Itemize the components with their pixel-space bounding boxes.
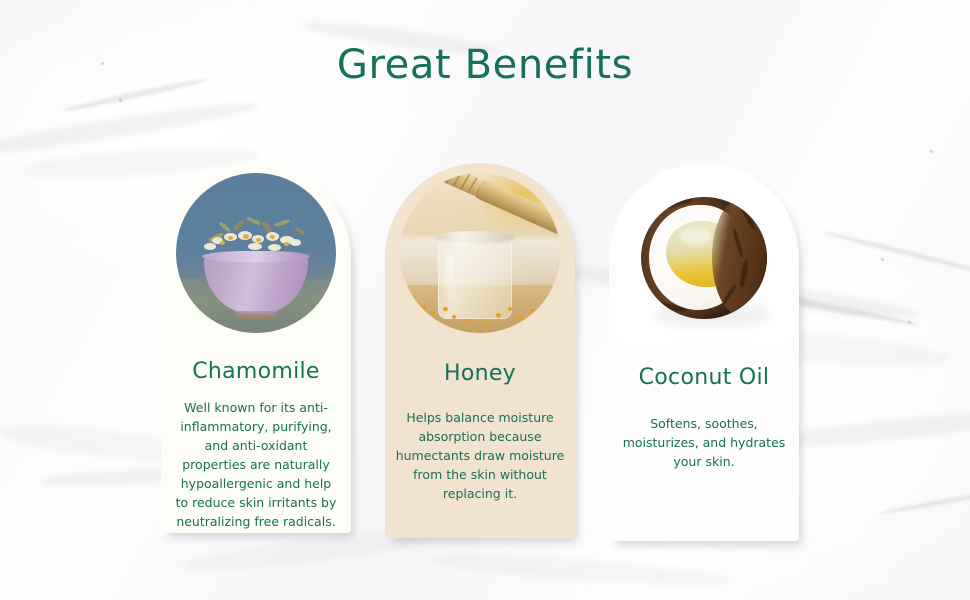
page-title: Great Benefits bbox=[0, 42, 970, 88]
card-title-honey: Honey bbox=[385, 361, 575, 386]
honey-image-area bbox=[385, 163, 575, 343]
benefits-banner: Great Benefits bbox=[0, 0, 970, 600]
benefit-card-honey[interactable]: Honey Helps balance moisture absorption … bbox=[385, 163, 575, 538]
chamomile-bowl-photo bbox=[176, 173, 336, 333]
card-body-chamomile: Well known for its anti-inflammatory, pu… bbox=[161, 398, 351, 531]
coconut-image-area bbox=[609, 163, 799, 343]
card-title-coconut-oil: Coconut Oil bbox=[609, 365, 799, 390]
card-body-honey: Helps balance moisture absorption becaus… bbox=[385, 408, 575, 503]
chamomile-image-area bbox=[161, 163, 351, 343]
benefit-card-coconut-oil[interactable]: Coconut Oil Softens, soothes, moisturize… bbox=[609, 163, 799, 541]
coconut-icon bbox=[641, 197, 767, 319]
benefit-card-list: Chamomile Well known for its anti-inflam… bbox=[0, 163, 970, 543]
honey-jar-icon bbox=[438, 239, 512, 319]
benefit-card-chamomile[interactable]: Chamomile Well known for its anti-inflam… bbox=[161, 163, 351, 533]
chamomile-flowers-icon bbox=[202, 215, 310, 259]
honey-jar-photo bbox=[400, 173, 560, 333]
coconut-half-photo bbox=[618, 169, 790, 341]
card-body-coconut-oil: Softens, soothes, moisturizes, and hydra… bbox=[609, 414, 799, 471]
card-title-chamomile: Chamomile bbox=[161, 359, 351, 384]
